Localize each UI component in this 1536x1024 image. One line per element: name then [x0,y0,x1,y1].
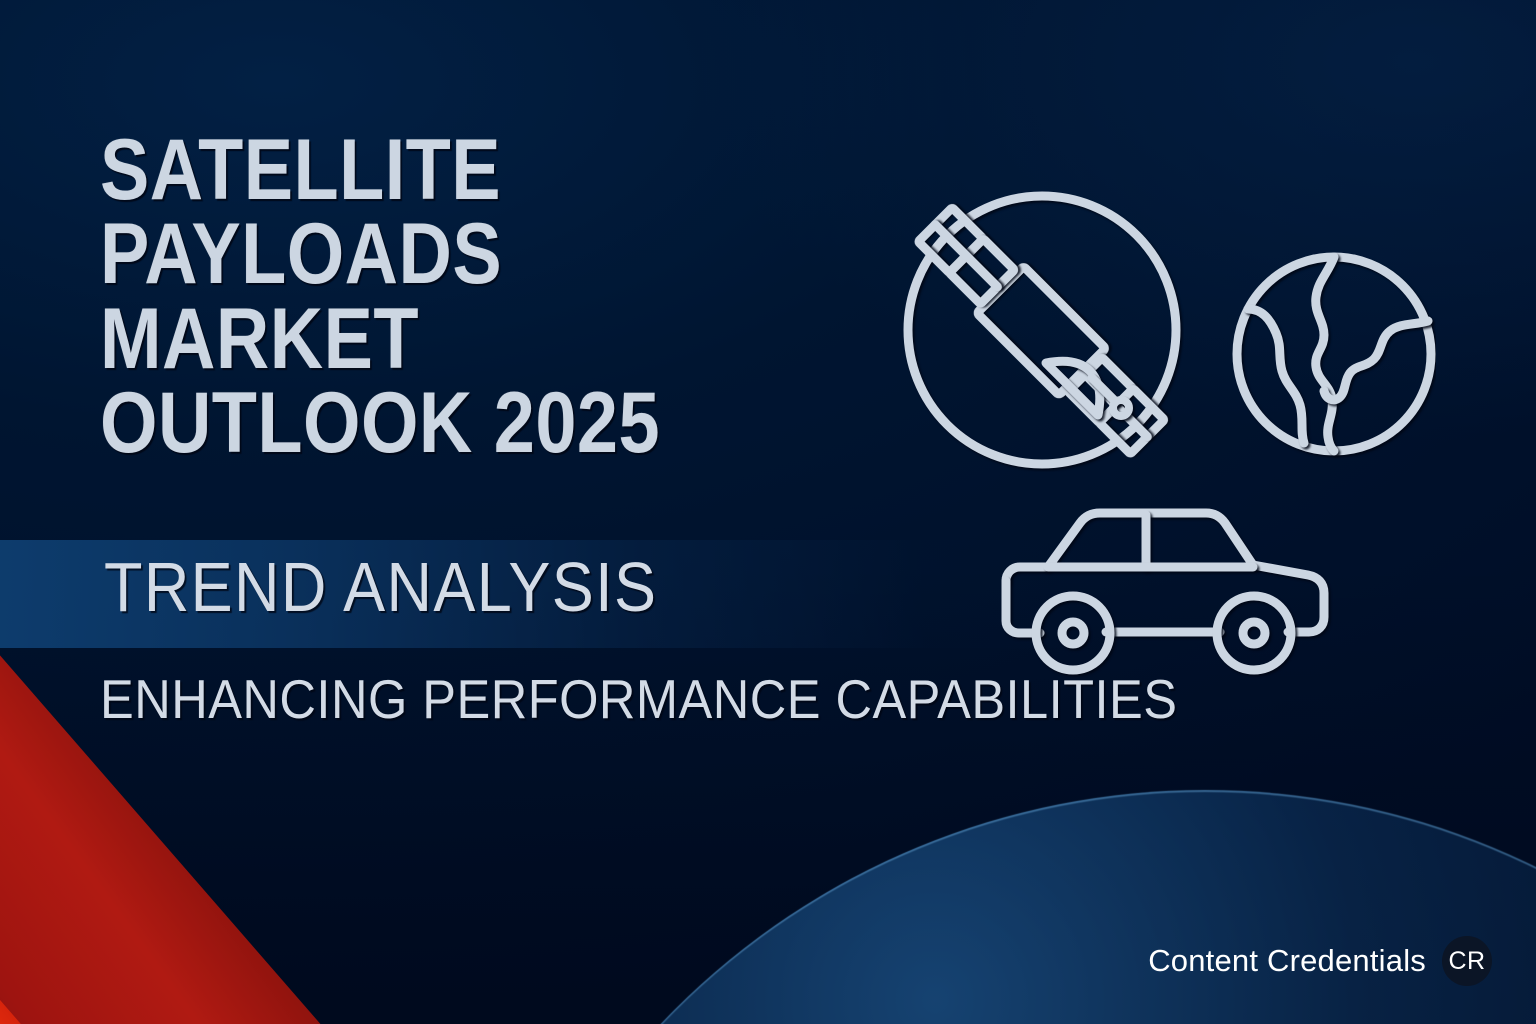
page-title-line-2: PAYLOADS [100,212,805,296]
content-credentials-badge[interactable]: CR [1442,936,1492,986]
page-title-line-3: MARKET [100,297,805,381]
content-credentials[interactable]: Content Credentials CR [1148,936,1492,986]
poster-canvas: SATELLITE PAYLOADS MARKET OUTLOOK 2025 T… [0,0,1536,1024]
car-icon [988,495,1338,695]
page-subtitle: TREND ANALYSIS [104,552,657,622]
content-credentials-label: Content Credentials [1148,943,1426,979]
globe-icon [1232,247,1436,461]
page-title-line-1: SATELLITE [100,128,805,212]
satellite-in-circle-icon [900,188,1184,472]
page-title-line-4: OUTLOOK 2025 [100,381,805,465]
page-title: SATELLITE PAYLOADS MARKET OUTLOOK 2025 [100,128,805,465]
